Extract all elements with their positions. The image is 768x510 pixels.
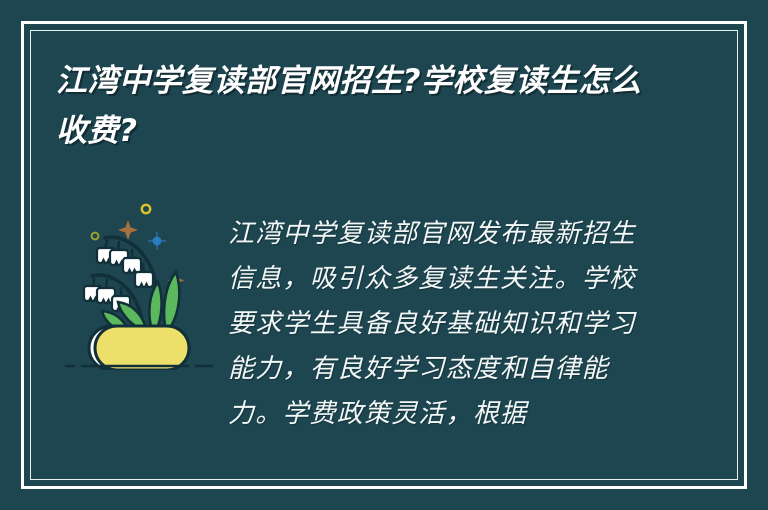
sparkle-blue-circle-icon — [148, 232, 166, 250]
flower-pot — [89, 326, 189, 370]
poster-canvas: 江湾中学复读部官网招生?学校复读生怎么收费? — [0, 0, 768, 510]
sparkle-yellow-dot-icon — [92, 233, 99, 240]
sparkle-yellow-circle-icon — [142, 205, 150, 213]
body-paragraph: 江湾中学复读部官网发布最新招生信息，吸引众多复读生关注。学校要求学生具备良好基础… — [228, 212, 646, 437]
illustration-lily-of-the-valley — [62, 198, 220, 370]
page-title: 江湾中学复读部官网招生?学校复读生怎么收费? — [56, 56, 666, 156]
